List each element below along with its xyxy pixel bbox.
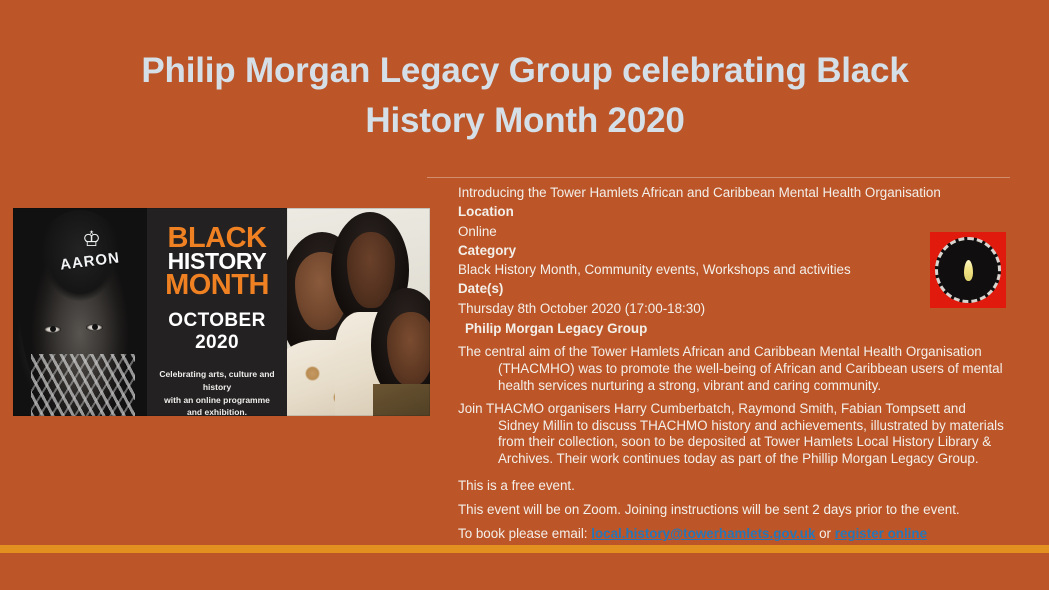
portrait-pupil-right xyxy=(92,324,98,330)
poster-tagline-line-1: Celebrating arts, culture and history xyxy=(156,368,278,394)
slide-canvas: Philip Morgan Legacy Group celebrating B… xyxy=(0,0,1049,590)
page-title-line-1: Philip Morgan Legacy Group celebrating B… xyxy=(70,46,980,96)
photo-person-3-face xyxy=(387,312,430,386)
event-intro: Introducing the Tower Hamlets African an… xyxy=(458,183,1010,202)
page-title: Philip Morgan Legacy Group celebrating B… xyxy=(70,46,980,147)
collage-panel-group-photo xyxy=(287,208,430,416)
collage-panel-poster: BLACK HISTORY MONTH OCTOBER 2020 Celebra… xyxy=(147,208,287,416)
category-value: Black History Month, Community events, W… xyxy=(458,260,1010,279)
poster-word-black: BLACK xyxy=(147,226,287,250)
event-details: Introducing the Tower Hamlets African an… xyxy=(458,183,1010,542)
poster-tagline: Celebrating arts, culture and history wi… xyxy=(147,368,287,416)
collage-panel-aaron-portrait: ♔ AARON xyxy=(13,208,147,416)
photo-person-3-blouse xyxy=(373,384,430,416)
location-value: Online xyxy=(458,222,1010,241)
bottom-accent-bar xyxy=(0,545,1049,553)
event-subheading: Philip Morgan Legacy Group xyxy=(458,319,1010,338)
category-label: Category xyxy=(458,241,1010,260)
booking-prefix: To book please email: xyxy=(458,526,591,541)
portrait-pupil-left xyxy=(50,326,56,332)
dates-label: Date(s) xyxy=(458,279,1010,298)
event-paragraph-2: Join THACMO organisers Harry Cumberbatch… xyxy=(458,401,1010,468)
location-label: Location xyxy=(458,202,1010,221)
booking-or: or xyxy=(815,526,834,541)
black-history-month-collage: ♔ AARON BLACK HISTORY MONTH OCTOBER 2020… xyxy=(13,208,430,416)
portrait-chain-necklace xyxy=(31,354,135,416)
event-paragraph-1: The central aim of the Tower Hamlets Afr… xyxy=(458,344,1010,394)
zoom-note: This event will be on Zoom. Joining inst… xyxy=(458,501,1010,518)
crown-icon: ♔ xyxy=(75,230,108,250)
booking-line: To book please email: local.history@towe… xyxy=(458,525,1010,542)
poster-tagline-line-2: with an online programme xyxy=(156,394,278,407)
dates-value: Thursday 8th October 2020 (17:00-18:30) xyxy=(458,299,1010,318)
poster-word-month: MONTH xyxy=(147,272,287,298)
content-divider xyxy=(427,177,1010,178)
poster-tagline-line-3: and exhibition. xyxy=(156,406,278,416)
free-event-note: This is a free event. xyxy=(458,477,1010,494)
poster-date: OCTOBER 2020 xyxy=(147,310,287,354)
page-title-line-2: History Month 2020 xyxy=(70,96,980,146)
blouse-pattern-dot xyxy=(305,366,320,381)
register-online-link[interactable]: register online xyxy=(835,526,927,541)
booking-email-link[interactable]: local.history@towerhamlets.gov.uk xyxy=(591,526,815,541)
